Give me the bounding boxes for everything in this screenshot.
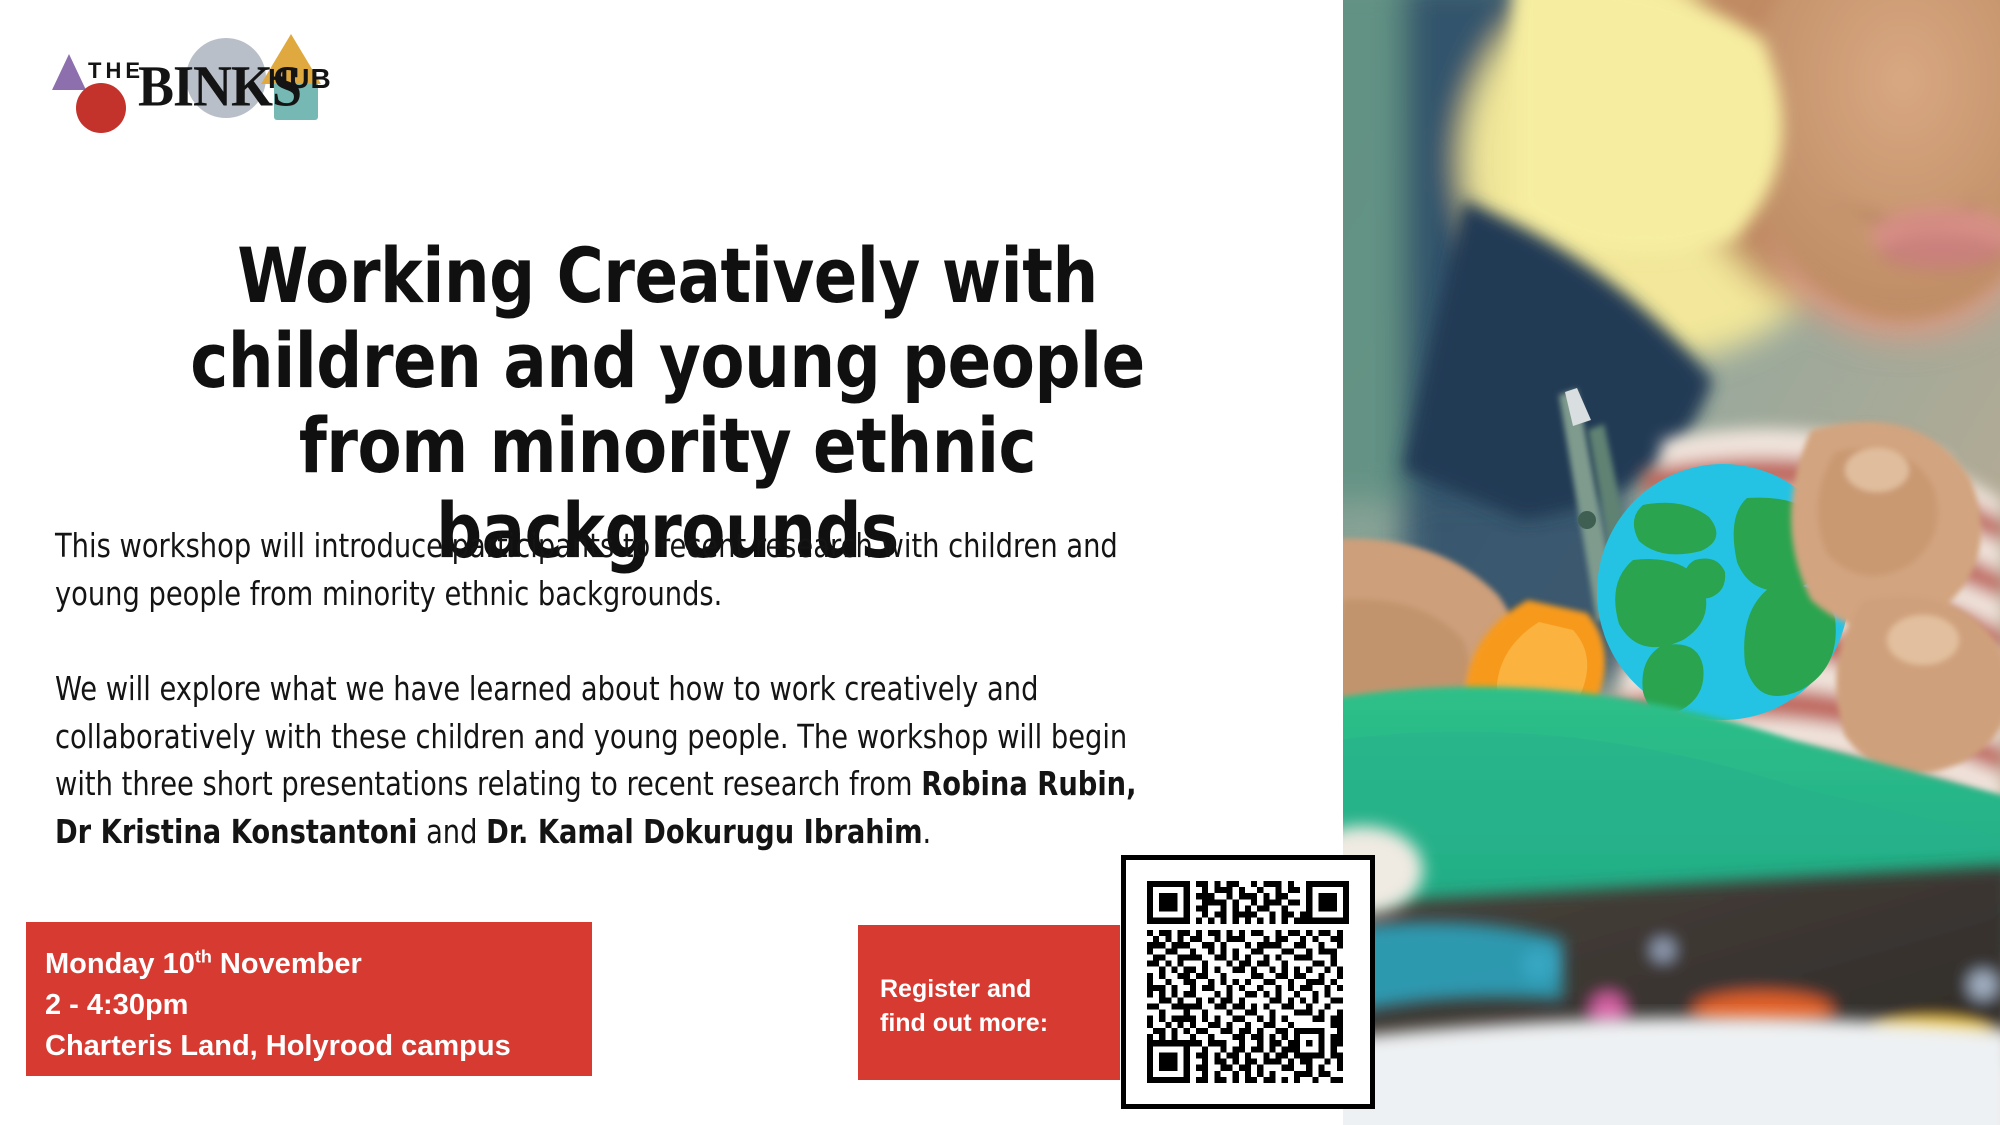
workshop-description: This workshop will introduce participant… [55,522,1159,855]
register-panel[interactable]: Register and find out more: [858,925,1120,1080]
event-venue: Charteris Land, Holyrood campus [45,1026,592,1067]
date-ordinal-suffix: th [195,946,212,966]
logo-artwork: THE BINKS HUB [46,28,366,133]
paragraph-2-sep-2: and [417,812,486,851]
event-month: November [212,948,362,980]
event-date-line: Monday 10th November [45,944,592,985]
register-line-1: Register and [880,973,1120,1007]
speaker-name-1: Robina Rubin, [921,764,1136,803]
description-paragraph-2: We will explore what we have learned abo… [55,665,1159,855]
logo-text-the: THE [88,58,144,83]
paragraph-spacer [55,617,1159,665]
event-poster: THE BINKS HUB Working Creatively with ch… [0,0,2000,1125]
workshop-photo [1343,0,2000,1125]
logo-red-circle [76,83,126,133]
description-paragraph-1: This workshop will introduce participant… [55,522,1159,617]
paragraph-2-end: . [923,812,932,851]
logo-purple-triangle [52,54,86,90]
speaker-name-2: Dr Kristina Konstantoni [55,812,417,851]
qr-code[interactable] [1121,855,1375,1109]
logo-text-hub: HUB [268,63,332,94]
speaker-name-3: Dr. Kamal Dokurugu Ibrahim [486,812,922,851]
event-time: 2 - 4:30pm [45,985,592,1026]
register-line-2: find out more: [880,1007,1120,1041]
the-binks-hub-logo[interactable]: THE BINKS HUB [46,28,366,133]
photo-illustration [1343,0,2000,1125]
qr-code-matrix [1147,881,1349,1083]
event-details-panel: Monday 10th November 2 - 4:30pm Charteri… [26,922,592,1076]
event-date: Monday 10 [45,948,195,980]
